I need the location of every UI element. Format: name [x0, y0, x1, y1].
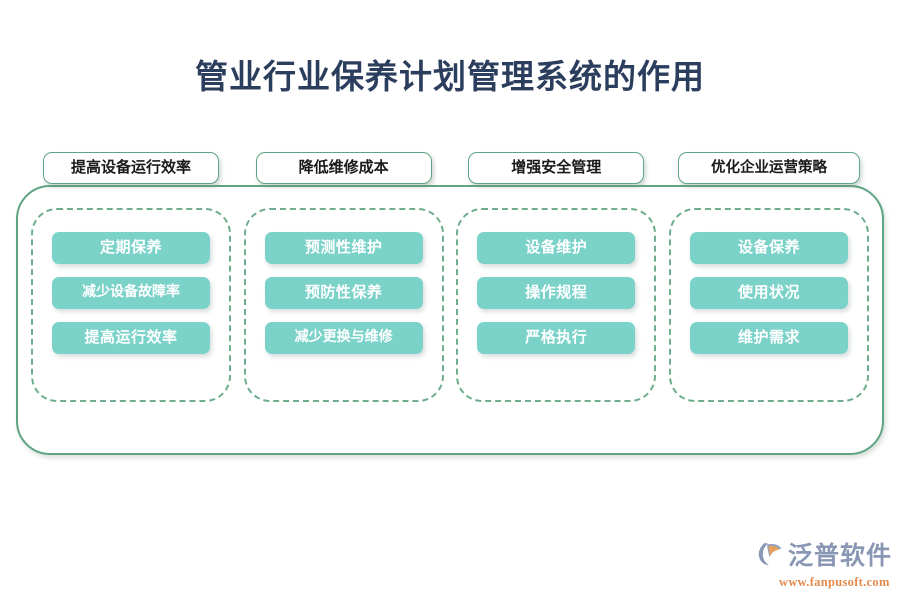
- item-pill[interactable]: 减少设备故障率: [52, 277, 210, 309]
- column-group-2: 降低维修成本 预测性维护 预防性保养 减少更换与维修: [243, 185, 445, 455]
- column-group-1: 提高设备运行效率 定期保养 减少设备故障率 提高运行效率: [30, 185, 232, 455]
- column-header-2[interactable]: 降低维修成本: [256, 152, 432, 184]
- brand-url: www.fanpusoft.com: [779, 575, 890, 590]
- item-pill[interactable]: 定期保养: [52, 232, 210, 264]
- item-pill[interactable]: 设备保养: [690, 232, 848, 264]
- page-title: 管业行业保养计划管理系统的作用: [0, 50, 900, 98]
- item-pill[interactable]: 使用状况: [690, 277, 848, 309]
- brand-name: 泛普软件: [788, 544, 892, 569]
- pill-stack-2: 预测性维护 预防性保养 减少更换与维修: [265, 232, 423, 354]
- item-pill[interactable]: 预测性维护: [265, 232, 423, 264]
- brand-row: 泛普软件: [757, 540, 892, 573]
- item-pill[interactable]: 设备维护: [477, 232, 635, 264]
- column-header-4[interactable]: 优化企业运营策略: [678, 152, 860, 184]
- column-header-1[interactable]: 提高设备运行效率: [43, 152, 219, 184]
- column-group-4: 优化企业运营策略 设备保养 使用状况 维护需求: [668, 185, 870, 455]
- fanpu-logo-icon: [757, 540, 785, 573]
- pill-stack-1: 定期保养 减少设备故障率 提高运行效率: [52, 232, 210, 354]
- item-pill[interactable]: 减少更换与维修: [265, 322, 423, 354]
- pill-stack-4: 设备保养 使用状况 维护需求: [690, 232, 848, 354]
- item-pill[interactable]: 维护需求: [690, 322, 848, 354]
- item-pill[interactable]: 操作规程: [477, 277, 635, 309]
- pill-stack-3: 设备维护 操作规程 严格执行: [477, 232, 635, 354]
- column-header-3[interactable]: 增强安全管理: [468, 152, 644, 184]
- item-pill[interactable]: 提高运行效率: [52, 322, 210, 354]
- columns-wrapper: 提高设备运行效率 定期保养 减少设备故障率 提高运行效率 降低维修成本 预测性维…: [16, 185, 884, 455]
- brand-logo[interactable]: 泛普软件 www.fanpusoft.com: [757, 540, 892, 590]
- item-pill[interactable]: 预防性保养: [265, 277, 423, 309]
- item-pill[interactable]: 严格执行: [477, 322, 635, 354]
- column-group-3: 增强安全管理 设备维护 操作规程 严格执行: [455, 185, 657, 455]
